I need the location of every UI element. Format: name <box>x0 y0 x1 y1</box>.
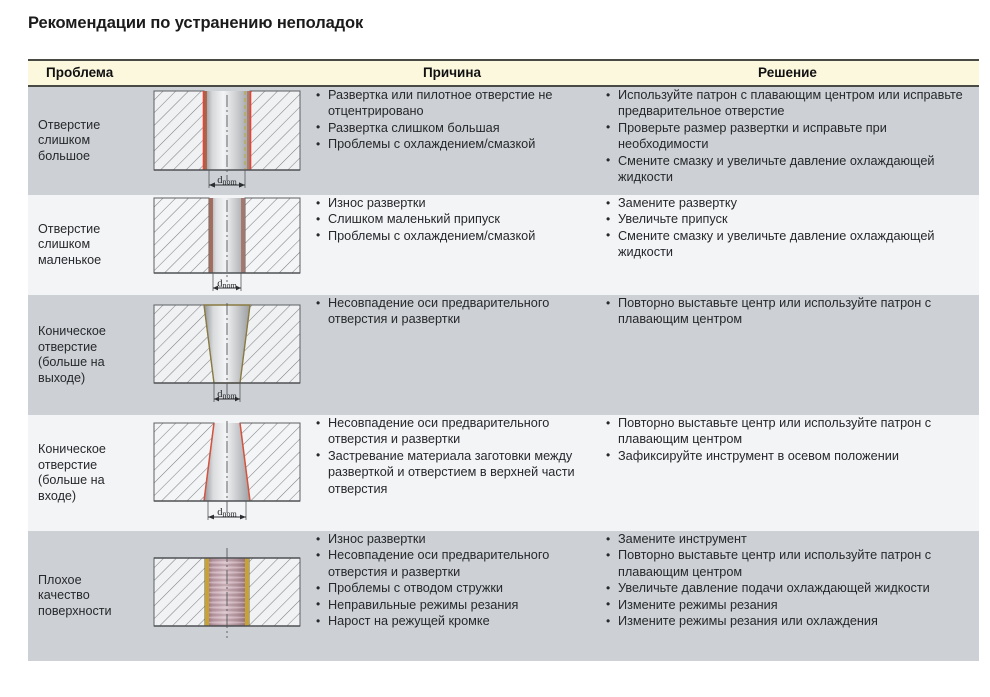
list-item: Развертка или пилотное отверстие не отце… <box>314 87 596 120</box>
problem-cell: Коническое отверстие (больше на входе) <box>28 415 308 531</box>
list-item: Нарост на режущей кромке <box>314 613 596 629</box>
list-item: Увеличьте давление подачи охлаждающей жи… <box>604 580 979 596</box>
list-item: Несовпадение оси предварительного отверс… <box>314 295 596 328</box>
remedy-cell: Повторно выставьте центр или используйте… <box>596 295 979 415</box>
problem-label-line: (больше на <box>38 355 150 371</box>
list-item: Проблемы с охлаждением/смазкой <box>314 228 596 244</box>
cause-cell: Несовпадение оси предварительного отверс… <box>308 295 596 415</box>
list-item: Повторно выставьте центр или используйте… <box>604 547 979 580</box>
list-item: Замените развертку <box>604 195 979 211</box>
table-row: Плохое качество поверхности <box>28 531 979 661</box>
table-row: Отверстие слишком большое <box>28 86 979 195</box>
problem-cell: Отверстие слишком маленькое <box>28 195 308 295</box>
list-item: Износ развертки <box>314 531 596 547</box>
table-header-row: Проблема Причина Решение <box>28 60 979 86</box>
problem-cell: Коническое отверстие (больше на выходе) <box>28 295 308 415</box>
remedy-cell: Замените инструмент Повторно выставьте ц… <box>596 531 979 661</box>
list-item: Несовпадение оси предварительного отверс… <box>314 547 596 580</box>
cause-list: Несовпадение оси предварительного отверс… <box>314 295 596 328</box>
problem-label-line: слишком <box>38 133 150 149</box>
problem-label-line: Коническое <box>38 324 150 340</box>
troubleshooting-table: Проблема Причина Решение Отверстие слишк… <box>28 59 979 661</box>
remedy-cell: Замените развертку Увеличьте припуск Сме… <box>596 195 979 295</box>
page-title: Рекомендации по устранению неполадок <box>28 14 363 33</box>
list-item: Смените смазку и увеличьте давление охла… <box>604 228 979 261</box>
problem-label-line: Плохое <box>38 573 150 589</box>
table-row: Отверстие слишком маленькое <box>28 195 979 295</box>
table-row: Коническое отверстие (больше на входе) <box>28 415 979 531</box>
column-header-remedy: Решение <box>596 60 979 86</box>
problem-label-line: выходе) <box>38 371 150 387</box>
list-item: Смените смазку и увеличьте давление охла… <box>604 153 979 186</box>
cause-list: Износ развертки Несовпадение оси предвар… <box>314 531 596 629</box>
list-item: Измените режимы резания <box>604 597 979 613</box>
svg-text:dnom: dnom <box>217 507 237 519</box>
problem-label-line: Коническое <box>38 442 150 458</box>
problem-cell: Плохое качество поверхности <box>28 531 308 661</box>
list-item: Повторно выставьте центр или используйте… <box>604 295 979 328</box>
problem-label-line: маленькое <box>38 253 150 269</box>
list-item: Проверьте размер развертки и исправьте п… <box>604 120 979 153</box>
problem-label-line: Отверстие <box>38 118 150 134</box>
remedy-list: Повторно выставьте центр или используйте… <box>604 295 979 328</box>
list-item: Износ развертки <box>314 195 596 211</box>
list-item: Повторно выставьте центр или используйте… <box>604 415 979 448</box>
list-item: Застревание материала заготовки между ра… <box>314 448 596 497</box>
problem-cell: Отверстие слишком большое <box>28 86 308 195</box>
list-item: Замените инструмент <box>604 531 979 547</box>
column-header-cause: Причина <box>308 60 596 86</box>
cause-cell: Развертка или пилотное отверстие не отце… <box>308 86 596 195</box>
cause-list: Развертка или пилотное отверстие не отце… <box>314 87 596 153</box>
list-item: Проблемы с отводом стружки <box>314 580 596 596</box>
cause-cell: Несовпадение оси предварительного отверс… <box>308 415 596 531</box>
list-item: Слишком маленький припуск <box>314 211 596 227</box>
problem-label-line: большое <box>38 149 150 165</box>
svg-text:dnom: dnom <box>217 175 237 187</box>
table-body: Отверстие слишком большое <box>28 86 979 661</box>
list-item: Измените режимы резания или охлаждения <box>604 613 979 629</box>
list-item: Увеличьте припуск <box>604 211 979 227</box>
remedy-list: Замените развертку Увеличьте припуск Сме… <box>604 195 979 261</box>
problem-label-line: отверстие <box>38 340 150 356</box>
problem-label-line: слишком <box>38 237 150 253</box>
svg-text:dnom: dnom <box>217 389 237 401</box>
remedy-cell: Используйте патрон с плавающим центром и… <box>596 86 979 195</box>
problem-label: Плохое качество поверхности <box>28 573 150 620</box>
problem-label-line: качество <box>38 588 150 604</box>
table-row: Коническое отверстие (больше на выходе) <box>28 295 979 415</box>
list-item: Неправильные режимы резания <box>314 597 596 613</box>
problem-label-line: отверстие <box>38 458 150 474</box>
problem-label: Отверстие слишком маленькое <box>28 222 150 269</box>
problem-label: Коническое отверстие (больше на выходе) <box>28 324 150 386</box>
problem-label-line: входе) <box>38 489 150 505</box>
svg-text:dnom: dnom <box>217 279 237 291</box>
figure-hole-too-small: dnom <box>152 196 302 294</box>
problem-label: Коническое отверстие (больше на входе) <box>28 442 150 504</box>
column-header-problem: Проблема <box>28 60 308 86</box>
cause-cell: Износ развертки Несовпадение оси предвар… <box>308 531 596 661</box>
figure-poor-surface-finish <box>152 544 302 648</box>
cause-list: Несовпадение оси предварительного отверс… <box>314 415 596 497</box>
figure-tapered-hole-wider-at-entry: dnom <box>152 421 302 525</box>
list-item: Проблемы с охлаждением/смазкой <box>314 136 596 152</box>
remedy-list: Повторно выставьте центр или используйте… <box>604 415 979 464</box>
remedy-list: Замените инструмент Повторно выставьте ц… <box>604 531 979 629</box>
list-item: Используйте патрон с плавающим центром и… <box>604 87 979 120</box>
troubleshooting-table-wrapper: Проблема Причина Решение Отверстие слишк… <box>28 59 961 661</box>
problem-label-line: Отверстие <box>38 222 150 238</box>
figure-hole-too-large: dnom <box>152 89 302 193</box>
cause-cell: Износ развертки Слишком маленький припус… <box>308 195 596 295</box>
remedy-cell: Повторно выставьте центр или используйте… <box>596 415 979 531</box>
table-header: Проблема Причина Решение <box>28 60 979 86</box>
problem-label-line: поверхности <box>38 604 150 620</box>
figure-tapered-hole-wider-at-exit: dnom <box>152 303 302 407</box>
problem-label-line: (больше на <box>38 473 150 489</box>
cause-list: Износ развертки Слишком маленький припус… <box>314 195 596 244</box>
list-item: Развертка слишком большая <box>314 120 596 136</box>
remedy-list: Используйте патрон с плавающим центром и… <box>604 87 979 185</box>
problem-label: Отверстие слишком большое <box>28 118 150 165</box>
list-item: Зафиксируйте инструмент в осевом положен… <box>604 448 979 464</box>
list-item: Несовпадение оси предварительного отверс… <box>314 415 596 448</box>
